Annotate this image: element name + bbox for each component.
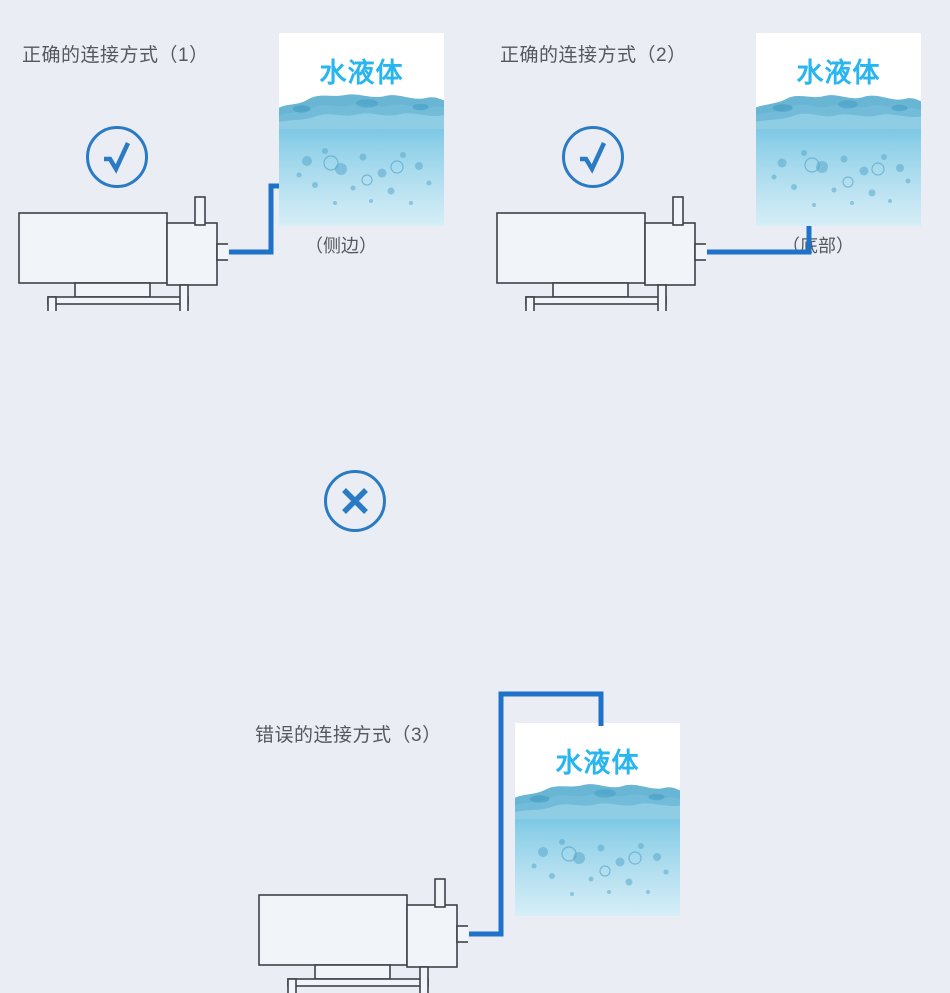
water-surface [279,83,444,129]
pump-unit [18,196,228,311]
water-body [515,810,680,916]
water-tank-label: 水液体 [279,51,444,90]
water-body [279,120,444,226]
tank-connection-caption: （侧边） [305,232,377,258]
pipe-top-connection [240,340,710,695]
panel-correct-side: 正确的连接方式（1） 水液体 [0,0,480,340]
water-surface [515,773,680,819]
panel-title: 错误的连接方式（3） [255,720,442,747]
water-tank: 水液体 [756,33,921,226]
check-circle-icon [562,126,624,188]
cross-circle-icon [324,470,386,532]
water-tank: 水液体 [515,723,680,916]
panel-title: 正确的连接方式（2） [500,40,687,67]
water-tank-label: 水液体 [515,741,680,780]
panel-incorrect-top: 错误的连接方式（3） 水液体 [240,340,710,695]
water-tank: 水液体 [279,33,444,226]
panel-correct-bottom: 正确的连接方式（2） 水液体 [480,0,950,340]
pump-unit [258,878,468,993]
panel-title: 正确的连接方式（1） [22,40,209,67]
check-circle-icon [86,126,148,188]
tank-connection-caption: （底部） [782,232,854,258]
pump-unit [496,196,706,311]
water-tank-label: 水液体 [756,51,921,90]
diagram-canvas: 正确的连接方式（1） 水液体 [0,0,950,695]
water-body [756,120,921,226]
water-surface [756,83,921,129]
